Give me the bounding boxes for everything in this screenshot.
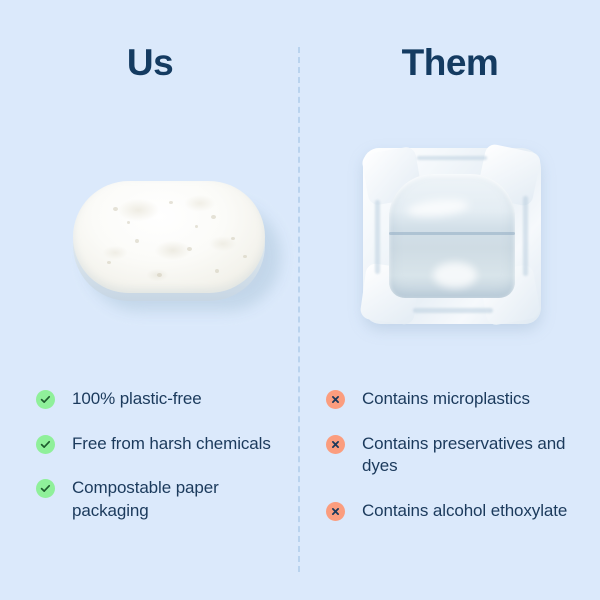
cross-icon — [326, 435, 345, 454]
pod-crease — [523, 196, 528, 276]
cross-icon — [326, 390, 345, 409]
column-heading-us: Us — [60, 44, 240, 81]
list-item-label: Contains alcohol ethoxylate — [362, 500, 567, 523]
pod-liquid-surface-line — [389, 232, 515, 235]
list-item: Contains alcohol ethoxylate — [326, 500, 572, 523]
product-image-plastic-pod — [355, 140, 550, 335]
list-item: Contains microplastics — [326, 388, 572, 411]
cross-icon — [326, 502, 345, 521]
list-item-label: Contains preservatives and dyes — [362, 433, 572, 478]
pod-highlight — [433, 262, 477, 288]
list-item-label: Free from harsh chemicals — [72, 433, 271, 456]
check-icon — [36, 390, 55, 409]
benefits-list: 100% plastic-free Free from harsh chemic… — [36, 388, 276, 522]
column-divider — [298, 47, 300, 572]
tablet-top-surface — [73, 181, 265, 293]
list-item-label: Contains microplastics — [362, 388, 530, 411]
product-image-tablet — [55, 165, 285, 330]
check-icon — [36, 435, 55, 454]
list-item: Contains preservatives and dyes — [326, 433, 572, 478]
pod-crease — [417, 156, 487, 160]
drawbacks-list: Contains microplastics Contains preserva… — [326, 388, 572, 522]
comparison-infographic: Us Them — [0, 0, 600, 600]
pod-crease — [375, 200, 380, 274]
list-item: Compostable paper packaging — [36, 477, 276, 522]
list-item: Free from harsh chemicals — [36, 433, 276, 456]
pod-crease — [413, 308, 493, 313]
list-item-label: Compostable paper packaging — [72, 477, 276, 522]
column-heading-them: Them — [360, 44, 540, 81]
check-icon — [36, 479, 55, 498]
list-item: 100% plastic-free — [36, 388, 276, 411]
list-item-label: 100% plastic-free — [72, 388, 202, 411]
